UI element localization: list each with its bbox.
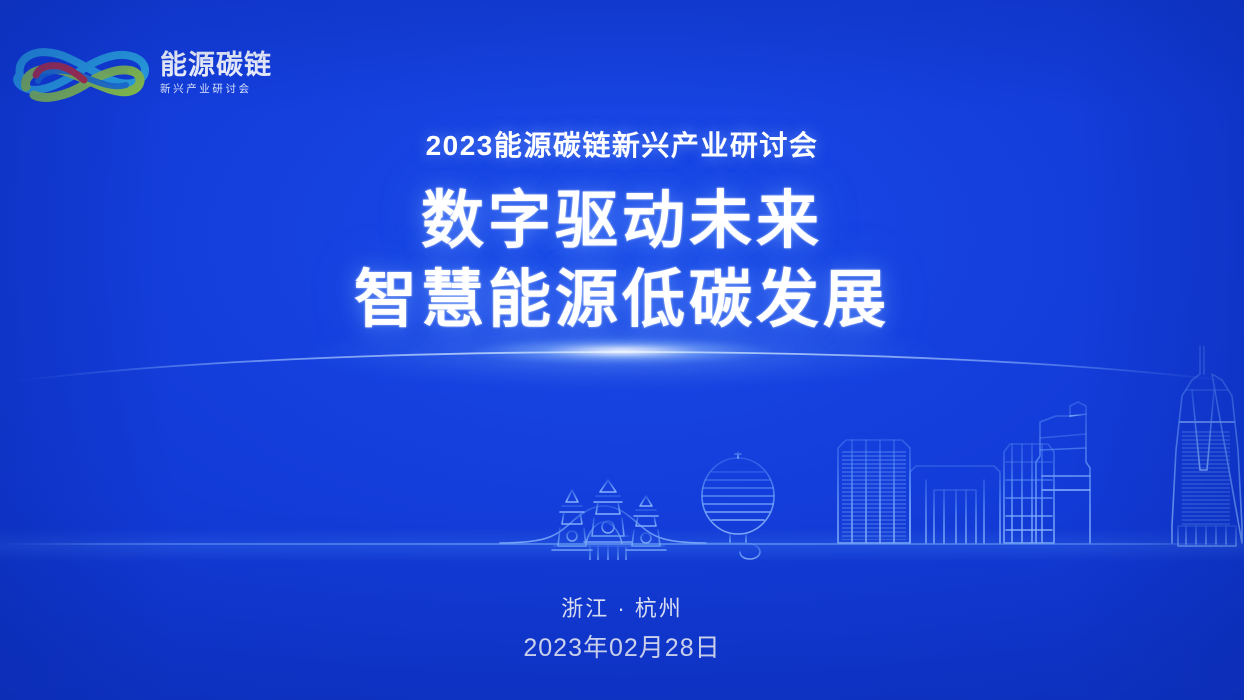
headline-line-1: 数字驱动未来 <box>0 182 1244 261</box>
brand-logo-text: 能源碳链 新兴产业研讨会 <box>160 47 272 96</box>
brand-name: 能源碳链 <box>160 51 272 79</box>
horizon-line <box>0 543 1244 545</box>
headline-line-2: 智慧能源低碳发展 <box>0 261 1244 340</box>
infinity-ribbon-logo-icon <box>6 35 154 107</box>
brand-logo[interactable]: 能源碳链 新兴产业研讨会 <box>6 32 278 110</box>
event-footer: 浙江 · 杭州 2023年02月28日 <box>0 594 1244 665</box>
brand-tagline: 新兴产业研讨会 <box>160 84 272 96</box>
event-date: 2023年02月28日 <box>0 632 1244 666</box>
event-subtitle: 2023能源碳链新兴产业研讨会 <box>0 124 1244 164</box>
main-headline: 数字驱动未来 智慧能源低碳发展 <box>0 182 1244 340</box>
presentation-slide: 能源碳链 新兴产业研讨会 2023能源碳链新兴产业研讨会 数字驱动未来 智慧能源… <box>0 0 1244 700</box>
event-venue: 浙江 · 杭州 <box>0 594 1244 624</box>
